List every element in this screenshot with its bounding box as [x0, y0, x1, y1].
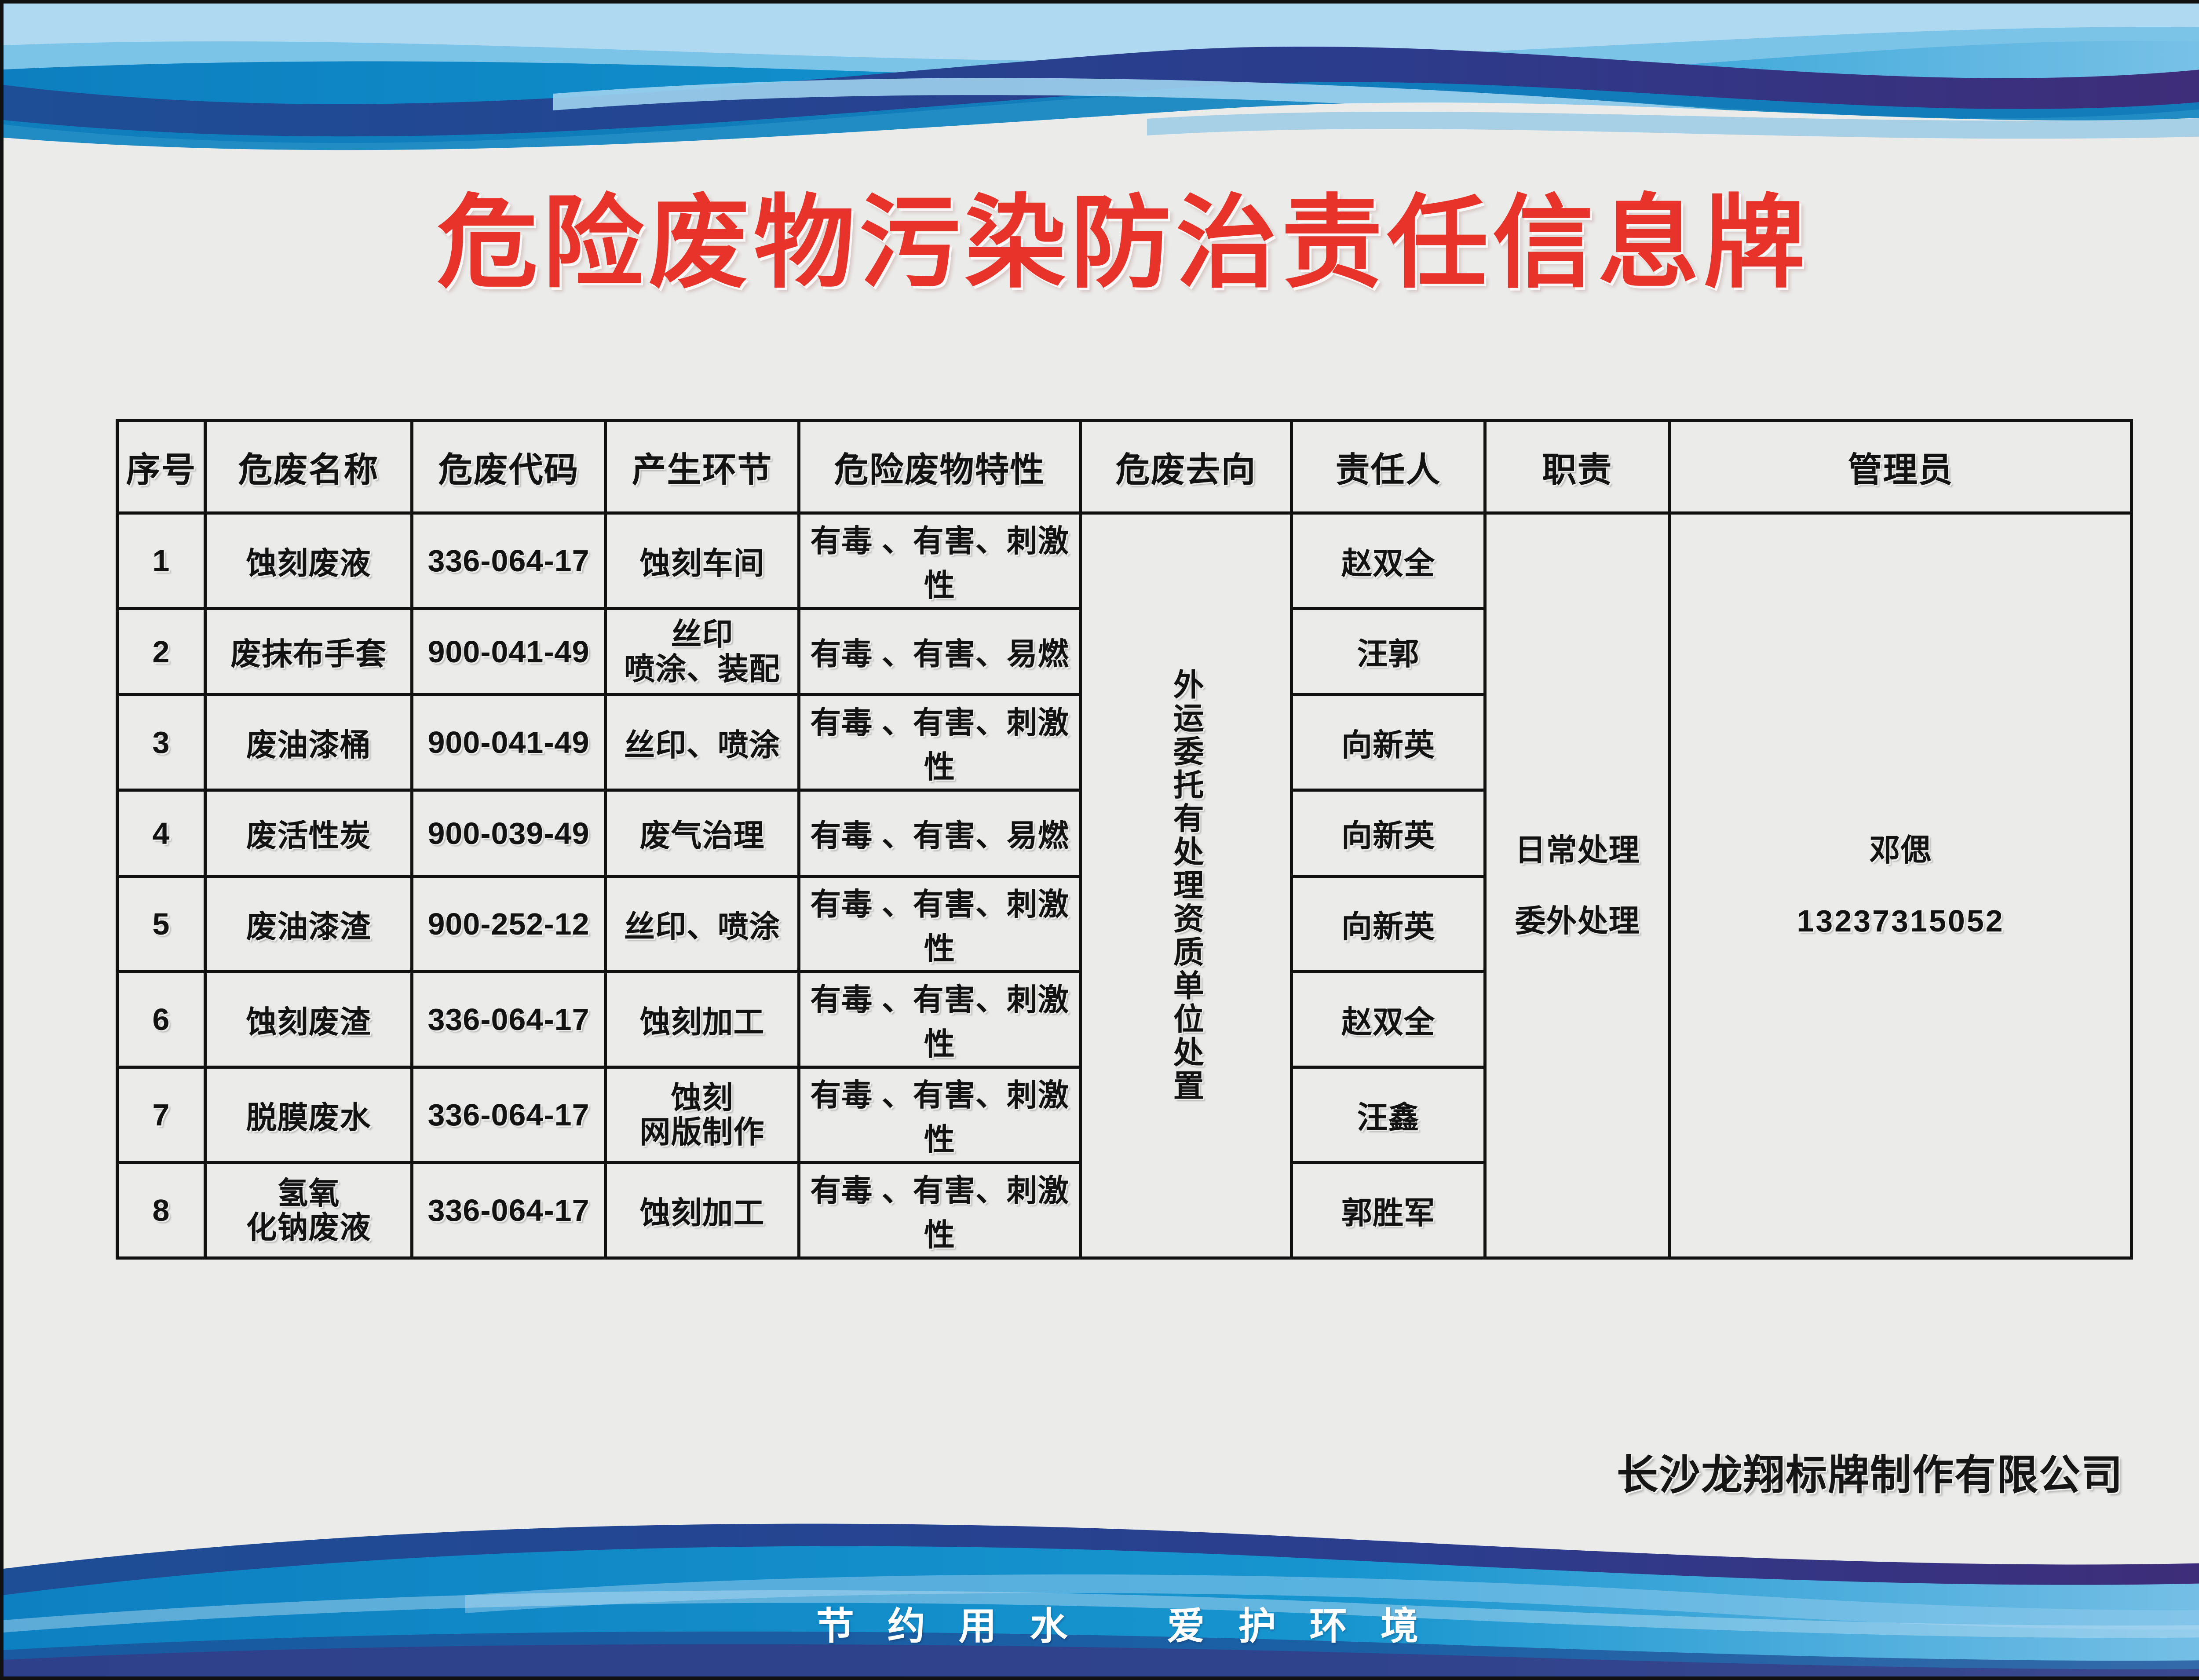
- col-header-properties: 危险废物特性: [799, 421, 1081, 513]
- cell-properties: 有毒 、有害、刺激性: [799, 695, 1081, 790]
- cell-stage: 丝印、喷涂: [606, 695, 799, 790]
- stage-line-1: 蚀刻: [610, 1081, 795, 1115]
- cell-code: 336-064-17: [412, 1163, 606, 1258]
- bottom-wave-graphic: [4, 1505, 2199, 1676]
- cell-duty-merged: 日常处理 委外处理: [1485, 513, 1670, 1258]
- col-header-name: 危废名称: [205, 421, 412, 513]
- cell-properties: 有毒 、有害、易燃: [799, 609, 1081, 695]
- hazardous-waste-table: 序号 危废名称 危废代码 产生环节 危险废物特性 危废去向 责任人 职责 管理员…: [116, 419, 2133, 1260]
- col-header-person: 责任人: [1292, 421, 1485, 513]
- slogan-right-text: 爱 护 环 境: [1167, 1605, 1430, 1647]
- cell-person: 向新英: [1292, 877, 1485, 972]
- cell-name: 蚀刻废渣: [205, 972, 412, 1067]
- cell-properties: 有毒 、有害、刺激性: [799, 972, 1081, 1067]
- cell-person: 赵双全: [1292, 972, 1485, 1067]
- cell-stage: 蚀刻车间: [606, 513, 799, 609]
- cell-stage: 蚀刻 网版制作: [606, 1067, 799, 1163]
- cell-person: 汪鑫: [1292, 1067, 1485, 1163]
- cell-code: 900-039-49: [412, 790, 606, 877]
- cell-properties: 有毒 、有害、刺激性: [799, 1067, 1081, 1163]
- cell-name: 废抹布手套: [205, 609, 412, 695]
- name-line-1: 氢氧: [209, 1176, 408, 1210]
- cell-index: 3: [117, 695, 205, 790]
- cell-index: 2: [117, 609, 205, 695]
- cell-index: 4: [117, 790, 205, 877]
- cell-index: 5: [117, 877, 205, 972]
- cell-code: 900-041-49: [412, 695, 606, 790]
- cell-person: 向新英: [1292, 695, 1485, 790]
- bottom-slogan: 节 约 用 水爱 护 环 境: [4, 1595, 2199, 1650]
- cell-person: 汪郭: [1292, 609, 1485, 695]
- cell-destination-merged: 外运委托有处理资质单位处置: [1081, 513, 1292, 1258]
- cell-index: 6: [117, 972, 205, 1067]
- bottom-decorative-banner: [4, 1505, 2199, 1676]
- manager-name: 邓偲: [1870, 833, 1932, 867]
- duty-line-2: 委外处理: [1489, 886, 1666, 957]
- cell-properties: 有毒 、有害、刺激性: [799, 1163, 1081, 1258]
- col-header-manager: 管理员: [1670, 421, 2132, 513]
- cell-stage: 蚀刻加工: [606, 972, 799, 1067]
- stage-line-1: 丝印: [610, 617, 795, 651]
- cell-name: 废油漆渣: [205, 877, 412, 972]
- cell-stage: 丝印、喷涂: [606, 877, 799, 972]
- cell-manager-merged: 邓偲 13237315052: [1670, 513, 2132, 1258]
- col-header-code: 危废代码: [412, 421, 606, 513]
- cell-stage: 废气治理: [606, 790, 799, 877]
- cell-index: 1: [117, 513, 205, 609]
- cell-name: 脱膜废水: [205, 1067, 412, 1163]
- company-name: 长沙龙翔标牌制作有限公司: [1617, 1442, 2123, 1501]
- cell-properties: 有毒 、有害、易燃: [799, 790, 1081, 877]
- manager-phone: 13237315052: [1674, 886, 2127, 957]
- information-board: 危险废物污染防治责任信息牌 序号 危废名称 危废代码 产生环节: [0, 0, 2199, 1680]
- col-header-index: 序号: [117, 421, 205, 513]
- cell-code: 900-041-49: [412, 609, 606, 695]
- cell-code: 336-064-17: [412, 972, 606, 1067]
- slogan-left-text: 节 约 用 水: [816, 1605, 1079, 1647]
- stage-line-2: 网版制作: [610, 1115, 795, 1149]
- destination-vertical-text: 外运委托有处理资质单位处置: [1167, 668, 1205, 1103]
- table-header-row: 序号 危废名称 危废代码 产生环节 危险废物特性 危废去向 责任人 职责 管理员: [117, 421, 2132, 513]
- cell-name: 氢氧 化钠废液: [205, 1163, 412, 1258]
- cell-name: 废油漆桶: [205, 695, 412, 790]
- cell-stage: 蚀刻加工: [606, 1163, 799, 1258]
- col-header-stage: 产生环节: [606, 421, 799, 513]
- page-title: 危险废物污染防治责任信息牌: [4, 193, 2199, 294]
- cell-code: 336-064-17: [412, 513, 606, 609]
- top-decorative-banner: [4, 4, 2199, 162]
- cell-name: 蚀刻废液: [205, 513, 412, 609]
- stage-line-2: 喷涂、装配: [610, 652, 795, 686]
- table-row: 1 蚀刻废液 336-064-17 蚀刻车间 有毒 、有害、刺激性 外运委托有处…: [117, 513, 2132, 609]
- duty-line-1: 日常处理: [1515, 833, 1640, 867]
- cell-code: 900-252-12: [412, 877, 606, 972]
- col-header-destination: 危废去向: [1081, 421, 1292, 513]
- cell-index: 8: [117, 1163, 205, 1258]
- cell-name: 废活性炭: [205, 790, 412, 877]
- name-line-2: 化钠废液: [209, 1210, 408, 1245]
- cell-person: 郭胜军: [1292, 1163, 1485, 1258]
- cell-stage: 丝印 喷涂、装配: [606, 609, 799, 695]
- cell-person: 赵双全: [1292, 513, 1485, 609]
- top-wave-graphic: [4, 4, 2199, 162]
- hazardous-waste-table-wrap: 序号 危废名称 危废代码 产生环节 危险废物特性 危废去向 责任人 职责 管理员…: [116, 419, 2130, 1260]
- cell-index: 7: [117, 1067, 205, 1163]
- cell-code: 336-064-17: [412, 1067, 606, 1163]
- cell-properties: 有毒 、有害、刺激性: [799, 513, 1081, 609]
- cell-properties: 有毒 、有害、刺激性: [799, 877, 1081, 972]
- cell-person: 向新英: [1292, 790, 1485, 877]
- col-header-duty: 职责: [1485, 421, 1670, 513]
